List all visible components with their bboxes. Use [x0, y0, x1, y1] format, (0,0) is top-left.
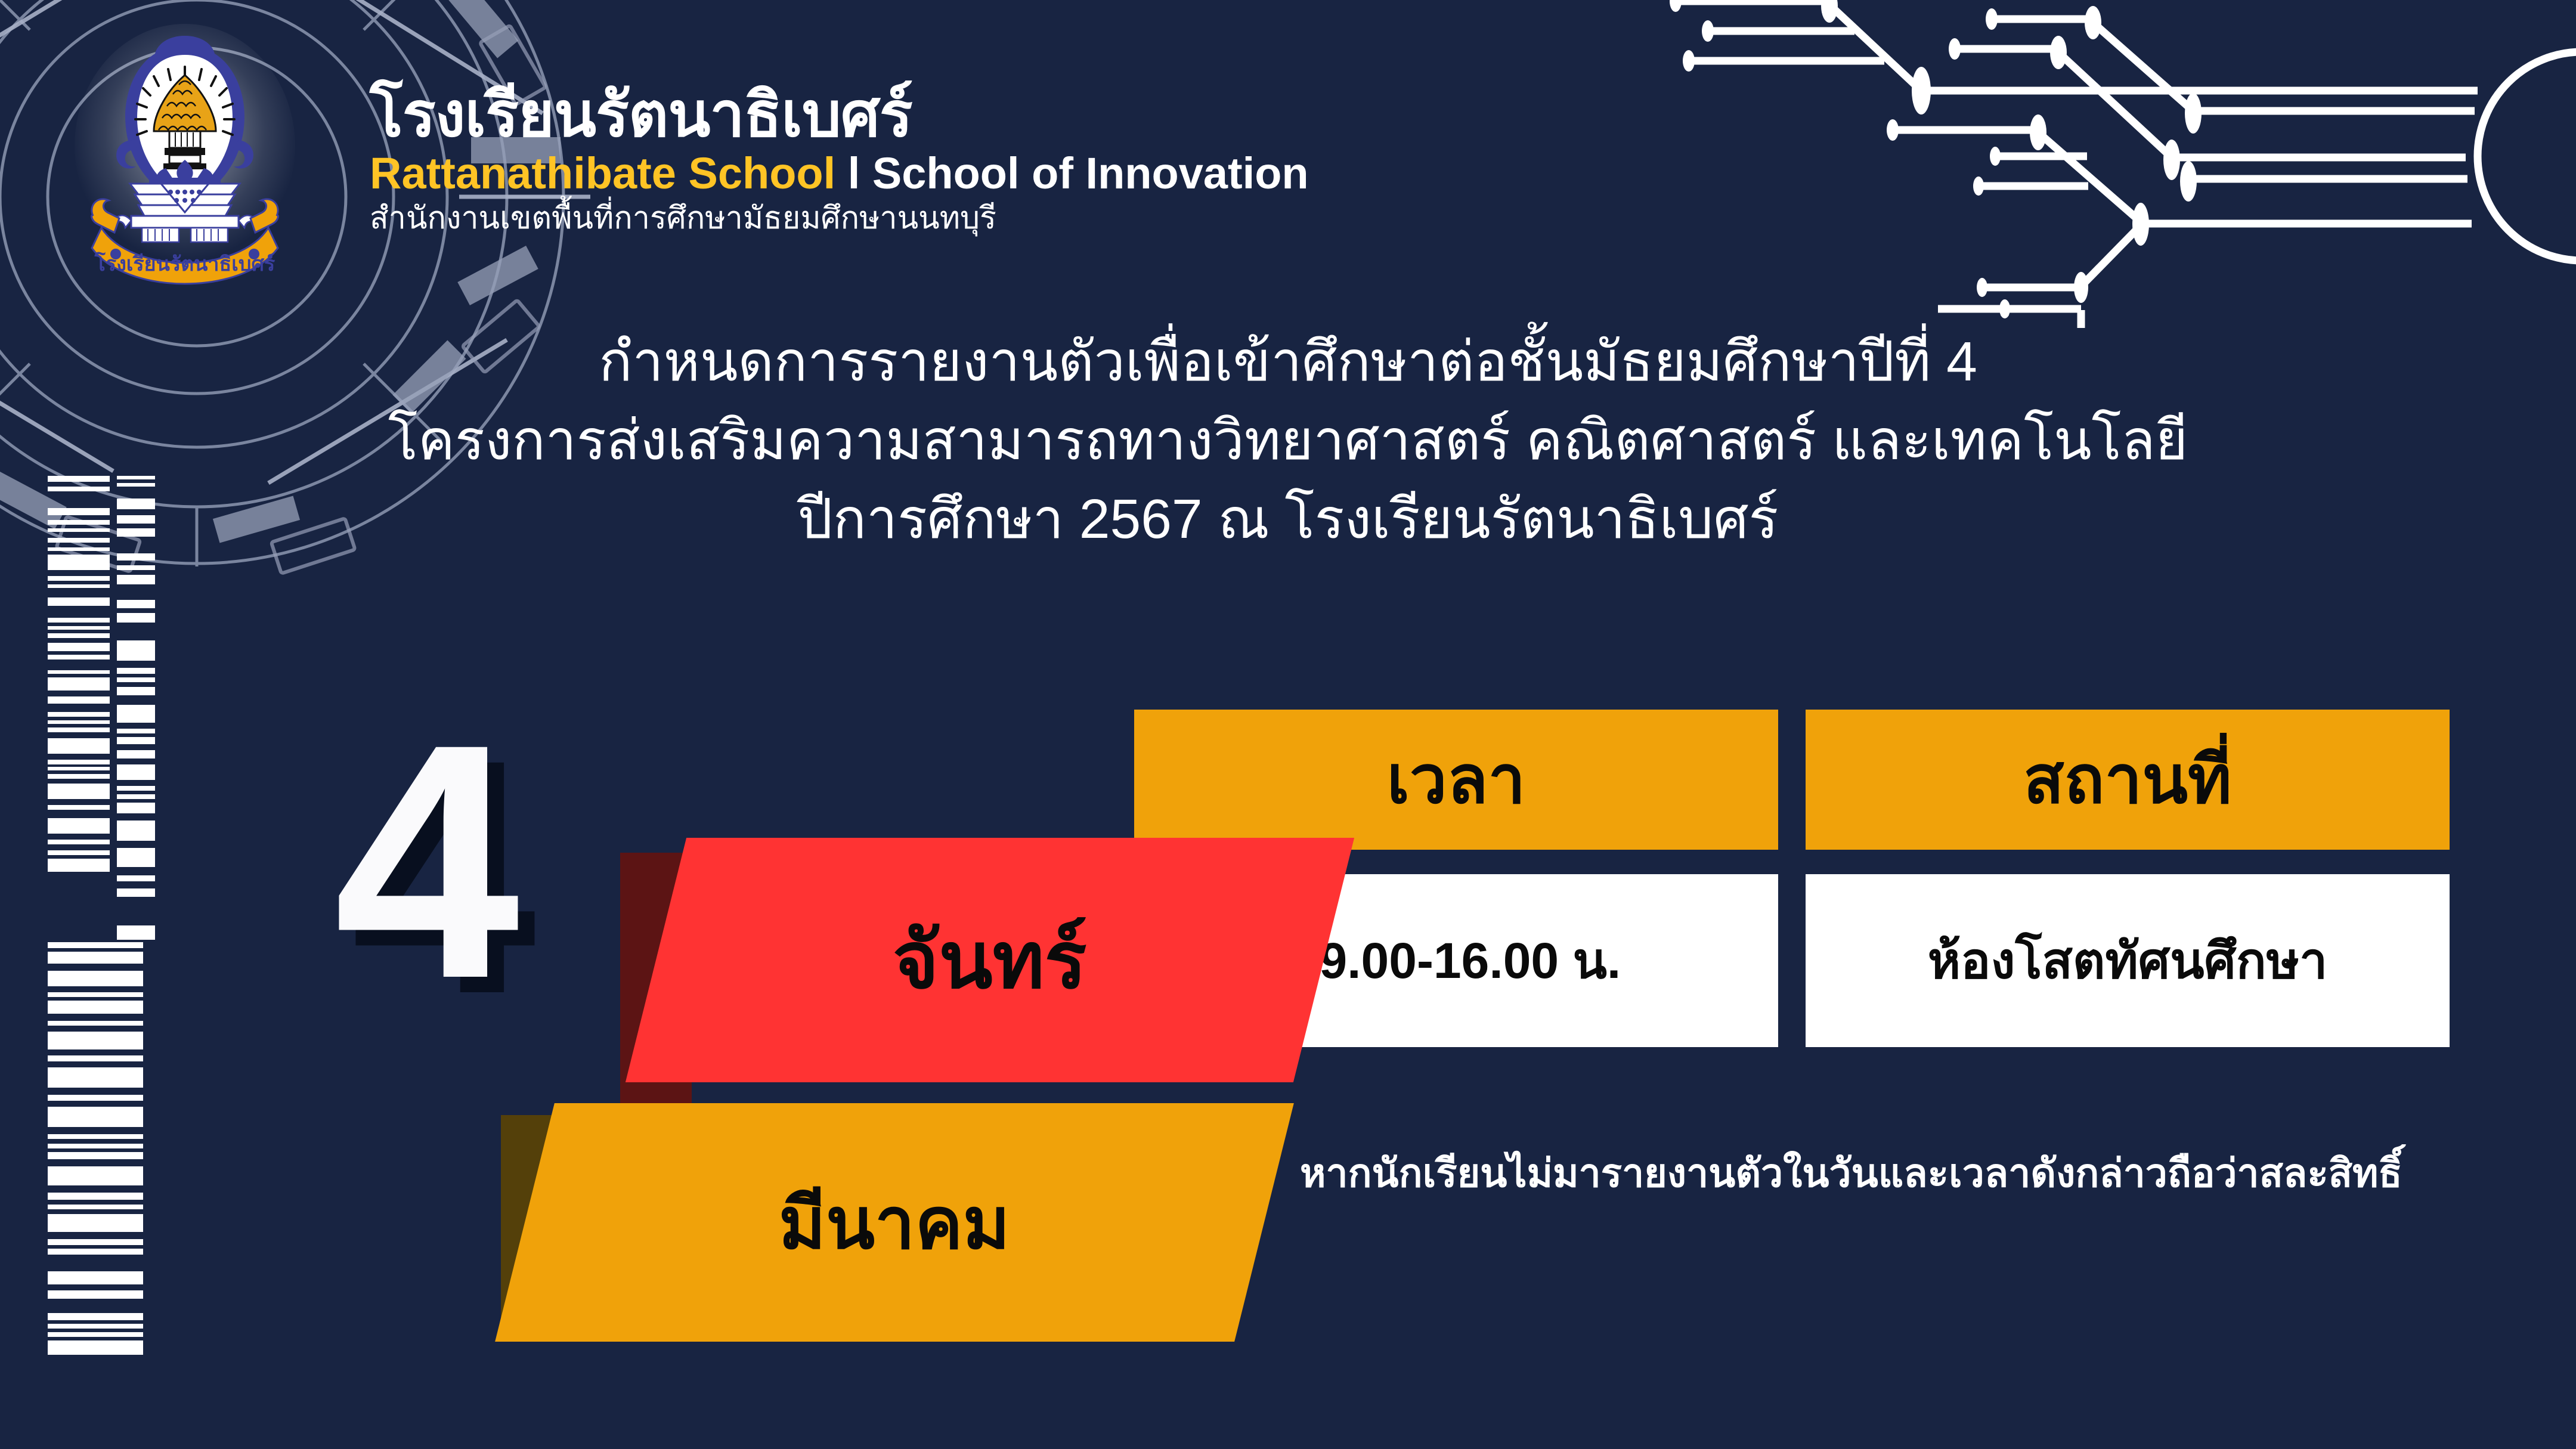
school-name-thai: โรงเรียนรัตนาธิเบศร์ [370, 83, 1741, 147]
school-name-english-line: Rattanathibate School l School of Innova… [370, 149, 1741, 197]
announcement-poster: โรงเรียนรัตนาธิเบศร์ โรงเรียนรัตนาธิเบศร… [0, 0, 2576, 1449]
logo-ribbon-text: โรงเรียนรัตนาธิเบศร์ [94, 252, 275, 275]
title-line-1: กำหนดการรายงานตัวเพื่อเข้าศึกษาต่อชั้นมั… [179, 322, 2397, 401]
school-tagline: School of Innovation [872, 148, 1309, 198]
title-line-2: โครงการส่งเสริมความสามารถทางวิทยาศาสตร์ … [179, 401, 2397, 479]
circuit-decoration [1604, 0, 2576, 328]
month-label: มีนาคม [779, 1166, 1010, 1280]
education-office-thai: สำนักงานเขตพื้นที่การศึกษามัธยมศึกษานนทบ… [370, 201, 1741, 237]
table-header-time-label: เวลา [1387, 747, 1526, 813]
school-name-english: Rattanathibate School [370, 148, 835, 198]
weekday-label: จันทร์ [893, 897, 1087, 1023]
name-separator: l [835, 148, 872, 198]
month-badge: มีนาคม [495, 1103, 1294, 1342]
time-value: 09.00-16.00 น. [1292, 936, 1621, 986]
place-value: ห้องโสตทัศนศึกษา [1928, 936, 2328, 986]
table-cell-place-value: ห้องโสตทัศนศึกษา [1806, 874, 2450, 1047]
table-header-time: เวลา [1134, 710, 1778, 850]
header-text-block: โรงเรียนรัตนาธิเบศร์ Rattanathibate Scho… [370, 83, 1741, 237]
table-header-place: สถานที่ [1806, 710, 2450, 850]
table-header-place-label: สถานที่ [2023, 747, 2231, 813]
page-title: กำหนดการรายงานตัวเพื่อเข้าศึกษาต่อชั้นมั… [179, 322, 2397, 558]
title-line-3: ปีการศึกษา 2567 ณ โรงเรียนรัตนาธิเบศร์ [179, 479, 2397, 558]
barcode-decoration [47, 471, 157, 1392]
warning-note: หากนักเรียนไม่มารายงานตัวในวันและเวลาดัง… [1300, 1142, 2552, 1205]
weekday-badge: จันทร์ [626, 838, 1354, 1082]
school-logo: โรงเรียนรัตนาธิเบศร์ [42, 18, 328, 298]
day-number: 4 [334, 724, 513, 998]
